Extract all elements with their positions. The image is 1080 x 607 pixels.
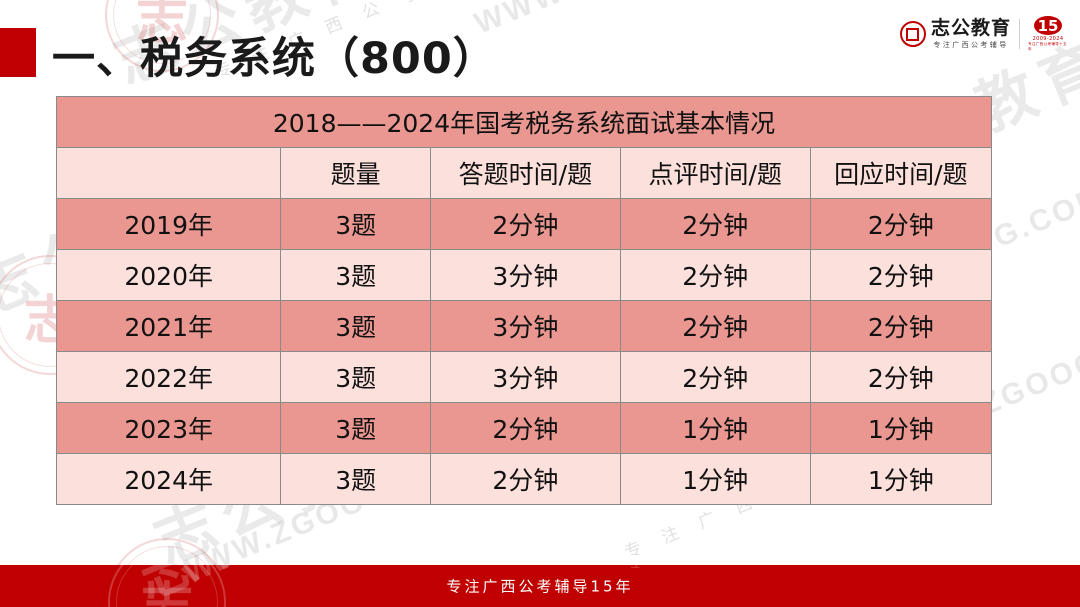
cell-answer-time: 2分钟 [430,199,620,250]
brand-name: 志公教育 [931,19,1011,38]
brand-seal-icon [900,21,926,47]
cell-response-time: 1分钟 [810,454,991,505]
table-container: 2018——2024年国考税务系统面试基本情况 题量 答题时间/题 点评时间/题… [56,96,992,505]
watermark-tagline-text: 专 注 广 西 公 考 辅 导 [620,565,911,576]
table-row: 2020年 3题 3分钟 2分钟 2分钟 [57,250,992,301]
cell-response-time: 2分钟 [810,250,991,301]
anniversary-badge: 15 2009-2024 专注广西公考辅导十五年 [1028,16,1068,52]
cell-comment-time: 1分钟 [620,454,810,505]
cell-year: 2019年 [57,199,281,250]
cell-year: 2024年 [57,454,281,505]
cell-response-time: 1分钟 [810,403,991,454]
brand-logo: 志公教育 专注广西公考辅导 15 2009-2024 专注广西公考辅导十五年 [900,16,1068,52]
column-header-answer-time: 答题时间/题 [430,148,620,199]
brand-mark: 志公教育 专注广西公考辅导 [900,19,1011,49]
cell-question-count: 3题 [281,352,431,403]
interview-overview-table: 2018——2024年国考税务系统面试基本情况 题量 答题时间/题 点评时间/题… [56,96,992,505]
brand-names: 志公教育 专注广西公考辅导 [931,19,1011,49]
cell-year: 2022年 [57,352,281,403]
anniversary-number: 15 [1034,16,1062,35]
brand-seal-inner-shape [906,28,919,41]
table-caption: 2018——2024年国考税务系统面试基本情况 [57,97,992,148]
table-row: 2022年 3题 3分钟 2分钟 2分钟 [57,352,992,403]
anniversary-subtitle: 专注广西公考辅导十五年 [1028,42,1068,52]
column-header-year [57,148,281,199]
footer-text: 专注广西公考辅导15年 [0,576,1080,597]
page-title: 一、税务系统（800） [52,24,497,86]
cell-question-count: 3题 [281,403,431,454]
cell-answer-time: 3分钟 [430,301,620,352]
cell-year: 2023年 [57,403,281,454]
cell-comment-time: 2分钟 [620,352,810,403]
title-accent-block [0,28,36,77]
cell-answer-time: 2分钟 [430,454,620,505]
footer-bar: WWW.ZGOOG.COM 专 注 广 西 公 考 辅 导 志公教育 志 专注广… [0,565,1080,607]
watermark-url-text: WWW.ZGOOG.COM [470,0,780,42]
cell-year: 2020年 [57,250,281,301]
table-row: 2023年 3题 2分钟 1分钟 1分钟 [57,403,992,454]
cell-comment-time: 2分钟 [620,199,810,250]
table-row: 2024年 3题 2分钟 1分钟 1分钟 [57,454,992,505]
brand-divider [1019,19,1020,49]
cell-answer-time: 2分钟 [430,403,620,454]
cell-response-time: 2分钟 [810,352,991,403]
cell-answer-time: 3分钟 [430,352,620,403]
cell-comment-time: 2分钟 [620,250,810,301]
cell-answer-time: 3分钟 [430,250,620,301]
table-header-row: 题量 答题时间/题 点评时间/题 回应时间/题 [57,148,992,199]
table-caption-row: 2018——2024年国考税务系统面试基本情况 [57,97,992,148]
cell-comment-time: 1分钟 [620,403,810,454]
table-row: 2019年 3题 2分钟 2分钟 2分钟 [57,199,992,250]
cell-comment-time: 2分钟 [620,301,810,352]
column-header-response-time: 回应时间/题 [810,148,991,199]
slide-canvas: 志公教育 WWW.ZGOOG.COM 专 注 广 西 公 考 辅 导 志公教育 … [0,0,1080,607]
table-row: 2021年 3题 3分钟 2分钟 2分钟 [57,301,992,352]
cell-response-time: 2分钟 [810,301,991,352]
cell-question-count: 3题 [281,250,431,301]
cell-year: 2021年 [57,301,281,352]
column-header-comment-time: 点评时间/题 [620,148,810,199]
cell-question-count: 3题 [281,454,431,505]
cell-question-count: 3题 [281,199,431,250]
column-header-question-count: 题量 [281,148,431,199]
cell-response-time: 2分钟 [810,199,991,250]
brand-tagline: 专注广西公考辅导 [933,42,1008,49]
cell-question-count: 3题 [281,301,431,352]
